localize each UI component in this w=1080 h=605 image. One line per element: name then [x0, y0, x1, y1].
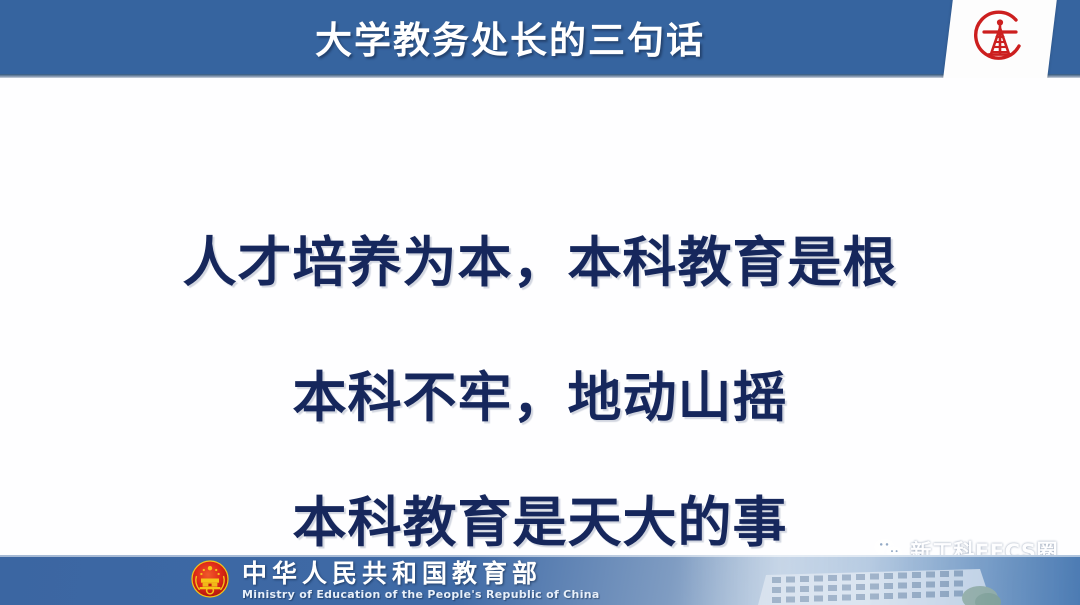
slide-canvas: 大学教务处长的三句话 — [0, 0, 1080, 605]
slogan-line-1: 人才培养为本，本科教育是根 — [0, 218, 1080, 297]
ministry-name-en: Ministry of Education of the People's Re… — [242, 589, 600, 601]
footer-top-divider — [0, 555, 1080, 557]
university-emblem-icon — [969, 6, 1031, 72]
page-title: 大学教务处长的三句话 — [0, 0, 1080, 74]
ministry-text: 中华人民共和国教育部 Ministry of Education of the … — [242, 561, 600, 601]
logo-plate — [943, 0, 1057, 80]
campus-building-photo — [680, 555, 1080, 605]
logo-plate-inner — [948, 0, 1052, 80]
ministry-name-cn: 中华人民共和国教育部 — [242, 561, 600, 587]
slide-body: 人才培养为本，本科教育是根 本科不牢，地动山摇 本科教育是天大的事 — [0, 78, 1080, 555]
slogan-line-2: 本科不牢，地动山摇 — [0, 353, 1080, 432]
footer-bar: 中华人民共和国教育部 Ministry of Education of the … — [0, 555, 1080, 605]
national-emblem-icon — [190, 559, 230, 603]
ministry-of-education-block: 中华人民共和国教育部 Ministry of Education of the … — [190, 559, 600, 603]
